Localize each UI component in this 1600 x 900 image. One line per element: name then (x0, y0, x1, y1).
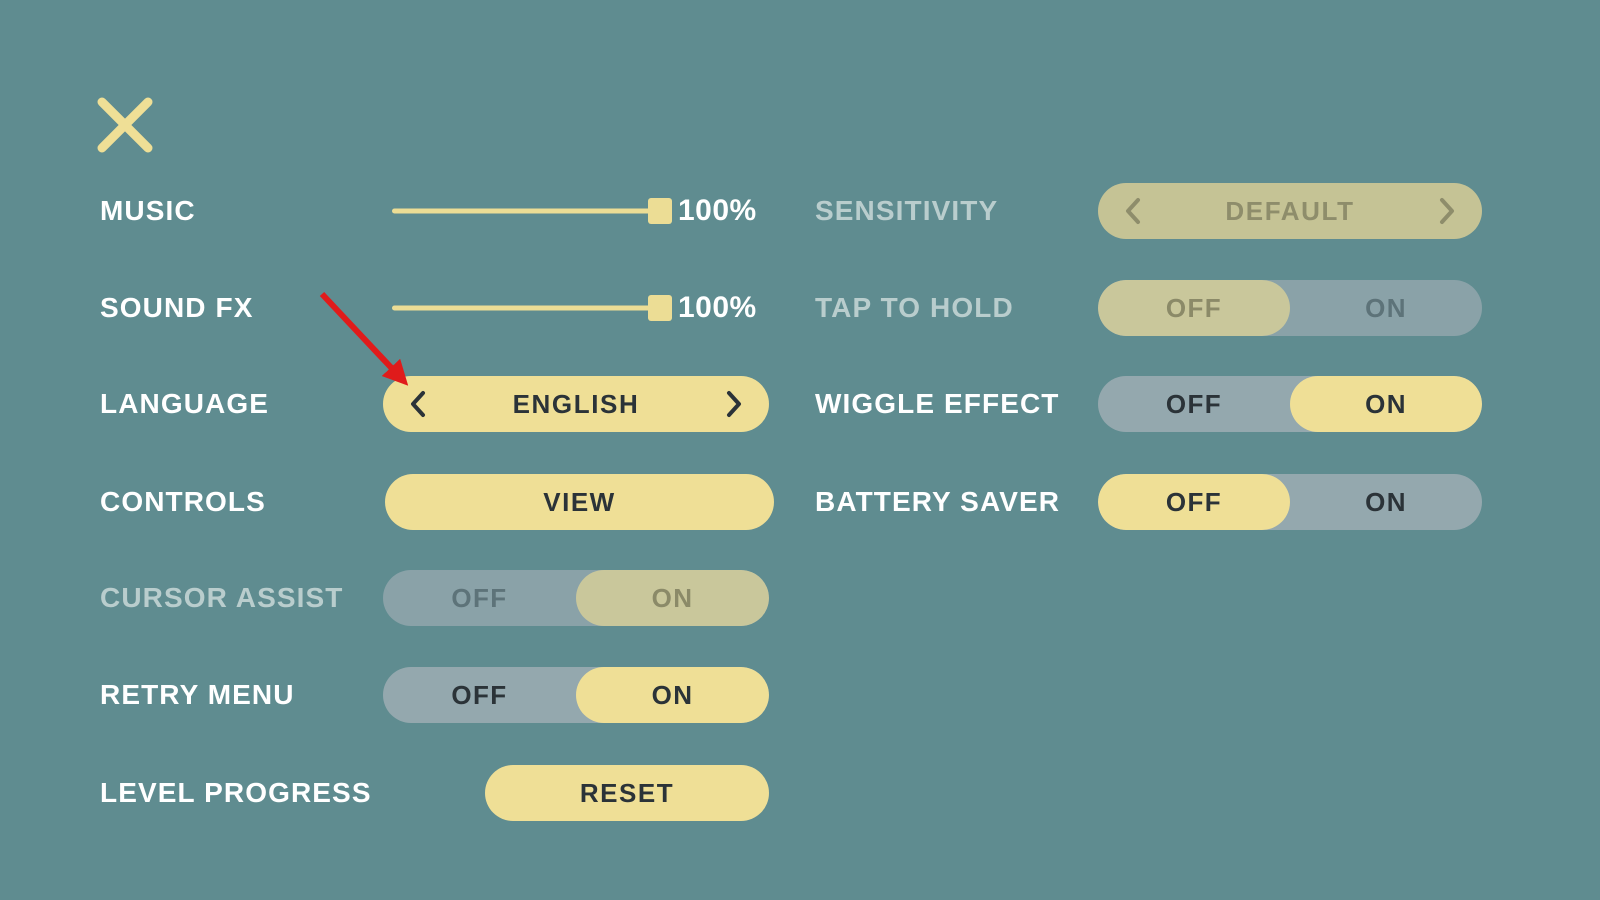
sensitivity-value: DEFAULT (1146, 196, 1434, 227)
tap-to-hold-toggle: OFF ON (1098, 280, 1482, 336)
sensitivity-stepper: DEFAULT (1098, 183, 1482, 239)
label-level-progress: LEVEL PROGRESS (100, 779, 372, 807)
chevron-left-icon (1120, 196, 1146, 226)
tap-to-hold-toggle-on: ON (1290, 280, 1482, 336)
battery-saver-toggle-off[interactable]: OFF (1098, 474, 1290, 530)
settings-screen: MUSIC 100% SOUND FX 100% LANGUAGE ENGLIS… (0, 0, 1600, 900)
wiggle-effect-toggle[interactable]: OFF ON (1098, 376, 1482, 432)
level-progress-reset-button[interactable]: RESET (485, 765, 769, 821)
setting-row-level-progress: LEVEL PROGRESS RESET (0, 762, 800, 824)
cursor-assist-toggle-off: OFF (383, 570, 576, 626)
cursor-assist-toggle: OFF ON (383, 570, 769, 626)
tap-to-hold-toggle-off: OFF (1098, 280, 1290, 336)
setting-row-tap-to-hold: TAP TO HOLD OFF ON (0, 277, 1600, 339)
close-x-icon[interactable] (96, 96, 154, 154)
label-cursor-assist: CURSOR ASSIST (100, 584, 344, 612)
setting-row-retry-menu: RETRY MENU OFF ON (0, 664, 800, 726)
label-sensitivity: SENSITIVITY (815, 197, 998, 225)
setting-row-battery-saver: BATTERY SAVER OFF ON (0, 471, 1600, 533)
wiggle-effect-toggle-on[interactable]: ON (1290, 376, 1482, 432)
setting-row-cursor-assist: CURSOR ASSIST OFF ON (0, 567, 800, 629)
label-tap-to-hold: TAP TO HOLD (815, 294, 1014, 322)
chevron-right-icon (1434, 196, 1460, 226)
label-battery-saver: BATTERY SAVER (815, 488, 1060, 516)
cursor-assist-toggle-on: ON (576, 570, 769, 626)
retry-menu-toggle[interactable]: OFF ON (383, 667, 769, 723)
retry-menu-toggle-on[interactable]: ON (576, 667, 769, 723)
label-retry-menu: RETRY MENU (100, 681, 295, 709)
setting-row-wiggle-effect: WIGGLE EFFECT OFF ON (0, 373, 1600, 435)
battery-saver-toggle[interactable]: OFF ON (1098, 474, 1482, 530)
retry-menu-toggle-off[interactable]: OFF (383, 667, 576, 723)
battery-saver-toggle-on[interactable]: ON (1290, 474, 1482, 530)
wiggle-effect-toggle-off[interactable]: OFF (1098, 376, 1290, 432)
label-wiggle-effect: WIGGLE EFFECT (815, 390, 1060, 418)
setting-row-sensitivity: SENSITIVITY DEFAULT (0, 180, 1600, 242)
